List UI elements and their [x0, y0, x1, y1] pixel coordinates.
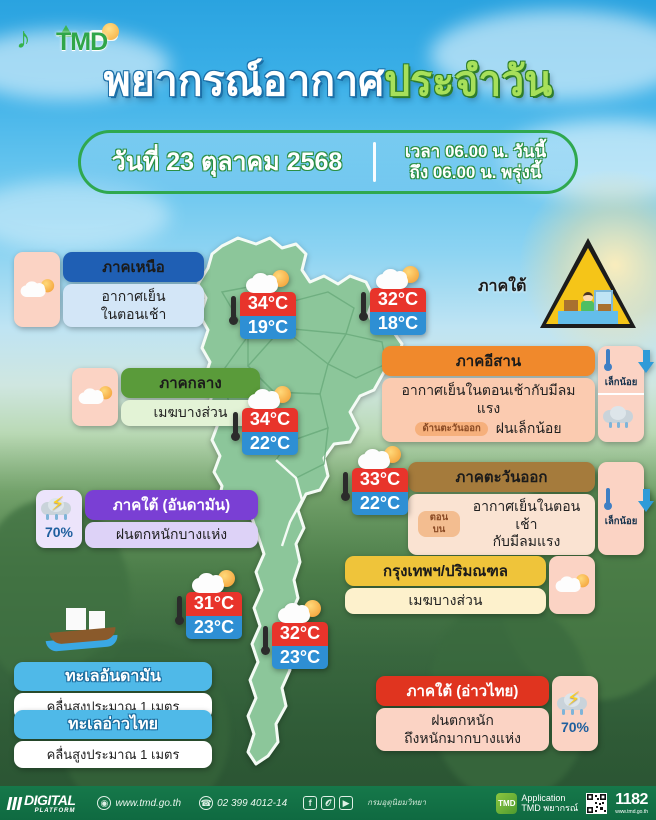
region-name-south-gulf: ภาคใต้ (อ่าวไทย): [376, 676, 549, 706]
temp-marker-north-east: 32°C 18°C: [370, 288, 426, 335]
thunderstorm-rain-icon: ⚡: [557, 692, 593, 718]
temperature-drop-indicator: เล็กน้อย: [598, 462, 644, 555]
south-gulf-weather-icon: ⚡ 70%: [552, 676, 598, 751]
south-flood-warning: ภาคใต้: [478, 238, 648, 334]
region-desc-east: ตอนบน อากาศเย็นในตอนเช้า กับมีลมแรง: [408, 494, 595, 555]
phone-icon: ☎: [199, 796, 213, 810]
temp-low: 23°C: [186, 616, 242, 640]
website-link[interactable]: ◉ www.tmd.go.th: [97, 796, 181, 810]
time-line-1: เวลา 06.00 น. วันนี้: [376, 141, 575, 162]
logo-text: TMD: [56, 28, 107, 57]
temp-marker-central: 34°C 22°C: [242, 408, 298, 455]
rain-indicator: [598, 393, 644, 442]
twitter-icon[interactable]: 𝒪: [321, 796, 335, 810]
phone-text: 02 399 4012-14: [217, 798, 287, 809]
sea-box-gulf[interactable]: ทะเลอ่าวไทย คลื่นสูงประมาณ 1 เมตร: [14, 710, 212, 768]
temp-marker-south-gulf: 32°C 23°C: [272, 622, 328, 669]
south-gulf-rain-chance: 70%: [561, 719, 589, 735]
east-desc-text: อากาศเย็นในตอนเช้า กับมีลมแรง: [468, 498, 585, 551]
south-andaman-rain-chance: 70%: [45, 524, 73, 540]
footer-bar: DIGITAL PLATFORM ◉ www.tmd.go.th ☎ 02 39…: [0, 786, 656, 820]
east-area-tag: ตอนบน: [418, 511, 460, 537]
temp-low: 23°C: [272, 646, 328, 670]
northeast-side-label: เล็กน้อย: [605, 375, 638, 390]
app-icon: TMD: [496, 793, 517, 814]
tmd-leaf-icon: ♪: [16, 24, 50, 56]
platform-sub: PLATFORM: [24, 808, 75, 814]
region-card-north[interactable]: ภาคเหนือ อากาศเย็น ในตอนเช้า: [14, 252, 204, 327]
temp-marker-north-west: 34°C 19°C: [240, 292, 296, 339]
gov-label: กรมอุตุนิยมวิทยา: [367, 799, 426, 808]
region-card-south-andaman[interactable]: ⚡ 70% ภาคใต้ (อันดามัน) ฝนตกหนักบางแห่ง: [36, 490, 258, 548]
forecast-date: วันที่ 23 ตุลาคม 2568: [81, 142, 373, 182]
sea-name-andaman: ทะเลอันดามัน: [14, 662, 212, 691]
region-card-south-gulf[interactable]: ภาคใต้ (อ่าวไทย) ฝนตกหนัก ถึงหนักมากบางแ…: [376, 676, 598, 751]
app-label-2: TMD พยากรณ์: [521, 803, 578, 813]
flood-scene-icon: [558, 290, 618, 324]
temp-low: 19°C: [240, 316, 296, 340]
region-name-south-andaman: ภาคใต้ (อันดามัน): [85, 490, 258, 520]
bangkok-weather-icon: [549, 556, 595, 614]
hotline-number: 1182 www.tmd.go.th: [615, 791, 648, 815]
region-card-bangkok[interactable]: กรุงเทพฯ/ปริมณฑล เมฆบางส่วน: [345, 556, 595, 614]
region-card-northeast[interactable]: ภาคอีสาน อากาศเย็นในตอนเช้ากับมีลมแรง ด้…: [382, 346, 644, 442]
northeast-side-icons: เล็กน้อย: [598, 346, 644, 442]
thermometer-down-arrow-icon: [601, 349, 641, 375]
thunderstorm-rain-icon: ⚡: [41, 497, 77, 523]
page-title: พยากรณ์อากาศประจำวัน: [0, 58, 656, 105]
time-line-2: ถึง 06.00 น. พรุ่งนี้: [376, 162, 575, 183]
south-warning-label: ภาคใต้: [478, 274, 526, 299]
digital-platform-logo: DIGITAL PLATFORM: [8, 792, 75, 814]
sailboat-illustration: [44, 608, 122, 654]
region-name-north: ภาคเหนือ: [63, 252, 204, 282]
south-andaman-weather-icon: ⚡ 70%: [36, 490, 82, 548]
globe-icon: ◉: [97, 796, 111, 810]
boat-sail: [66, 608, 86, 630]
hotline-sub: www.tmd.go.th: [615, 809, 648, 815]
boat-sail: [89, 611, 105, 630]
temp-low: 22°C: [352, 492, 408, 516]
region-desc-south-gulf: ฝนตกหนัก ถึงหนักมากบางแห่ง: [376, 708, 549, 751]
facebook-icon[interactable]: f: [303, 796, 317, 810]
date-time-banner: วันที่ 23 ตุลาคม 2568 เวลา 06.00 น. วันน…: [78, 130, 578, 194]
weather-forecast-poster: ♪ TMD พยากรณ์อากาศประจำวัน วันที่ 23 ตุล…: [0, 0, 656, 820]
tmd-app-badge[interactable]: TMD Application TMD พยากรณ์: [496, 793, 578, 814]
sea-name-gulf: ทะเลอ่าวไทย: [14, 710, 212, 739]
rain-cloud-icon: [603, 405, 639, 431]
temp-marker-east: 33°C 22°C: [352, 468, 408, 515]
region-card-east[interactable]: ภาคตะวันออก ตอนบน อากาศเย็นในตอนเช้า กับ…: [408, 462, 644, 555]
tmd-logo: ♪ TMD: [16, 20, 134, 60]
qr-code-icon: [586, 793, 607, 814]
temperature-drop-indicator: เล็กน้อย: [598, 346, 644, 393]
east-side-label: เล็กน้อย: [605, 514, 638, 529]
temp-low: 18°C: [370, 312, 426, 336]
temp-low: 22°C: [242, 432, 298, 456]
region-name-northeast: ภาคอีสาน: [382, 346, 595, 376]
region-name-east: ภาคตะวันออก: [408, 462, 595, 492]
thermometer-down-arrow-icon: [601, 488, 641, 514]
floodwater-icon: [558, 311, 618, 324]
sea-desc-gulf: คลื่นสูงประมาณ 1 เมตร: [14, 741, 212, 768]
northeast-area-tag: ด้านตะวันออก: [415, 422, 487, 436]
east-side-icons: เล็กน้อย: [598, 462, 644, 555]
phone-number[interactable]: ☎ 02 399 4012-14: [199, 796, 287, 810]
forecast-time-range: เวลา 06.00 น. วันนี้ ถึง 06.00 น. พรุ่งน…: [376, 141, 575, 184]
northeast-rain-text: ฝนเล็กน้อย: [496, 420, 562, 438]
region-desc-bangkok: เมฆบางส่วน: [345, 588, 546, 614]
divider: [373, 142, 376, 182]
region-name-bangkok: กรุงเทพฯ/ปริมณฑล: [345, 556, 546, 586]
region-desc-north: อากาศเย็น ในตอนเช้า: [63, 284, 204, 327]
region-name-central: ภาคกลาง: [121, 368, 260, 398]
platform-name: DIGITAL: [24, 792, 75, 808]
central-weather-icon: [72, 368, 118, 426]
youtube-icon[interactable]: ▶: [339, 796, 353, 810]
title-part1: พยากรณ์อากาศ: [104, 58, 384, 104]
temp-marker-south-andaman: 31°C 23°C: [186, 592, 242, 639]
north-weather-icon: [14, 252, 60, 327]
title-part2: ประจำวัน: [384, 58, 552, 104]
region-desc-south-andaman: ฝนตกหนักบางแห่ง: [85, 522, 258, 548]
region-desc-northeast: อากาศเย็นในตอนเช้ากับมีลมแรง ด้านตะวันออ…: [382, 378, 595, 442]
website-text: www.tmd.go.th: [115, 798, 181, 809]
app-label-1: Application: [521, 793, 578, 803]
